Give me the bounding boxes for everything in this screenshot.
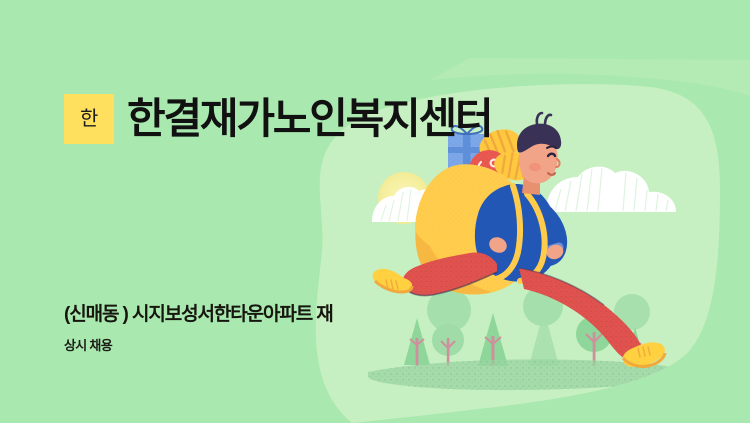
hand-back xyxy=(487,234,510,255)
neck xyxy=(522,176,540,195)
illustration-artwork xyxy=(0,0,750,423)
company-name-heading: 한결재가노인복지센터 xyxy=(127,98,491,140)
shoe-back xyxy=(373,269,412,292)
tree xyxy=(576,316,612,366)
cloud-left xyxy=(372,187,458,222)
tree-row xyxy=(404,286,650,366)
company-logo-initial: 한 xyxy=(80,109,98,129)
shoe-front xyxy=(623,342,665,367)
legs xyxy=(403,253,643,361)
position-title: (신매동 ) 시지보성서한타운아파트 재 xyxy=(64,302,333,328)
torso xyxy=(475,184,559,282)
posting-details: (신매동 ) 시지보성서한타운아파트 재 상시 채용 xyxy=(64,302,333,355)
job-posting-banner: 한 한결재가노인복지센터 (신매동 ) 시지보성서한타운아파트 재 상시 채용 xyxy=(0,0,750,423)
back-arm xyxy=(460,193,480,235)
ornament-yellow-striped-left xyxy=(492,148,537,184)
hand-front xyxy=(545,243,566,262)
tree xyxy=(478,313,508,366)
gift-sack xyxy=(415,164,531,294)
tree xyxy=(404,318,430,366)
employment-type-label: 상시 채용 xyxy=(64,338,333,355)
tree xyxy=(529,310,559,366)
head xyxy=(517,113,561,183)
company-header: 한 한결재가노인복지센터 xyxy=(64,70,491,168)
tree xyxy=(432,324,464,366)
cloud-right xyxy=(546,167,676,212)
ground-texture xyxy=(368,359,684,390)
company-logo-badge: 한 xyxy=(64,94,114,144)
sun xyxy=(378,172,430,224)
tree xyxy=(625,327,646,366)
sack-strap xyxy=(496,186,545,281)
